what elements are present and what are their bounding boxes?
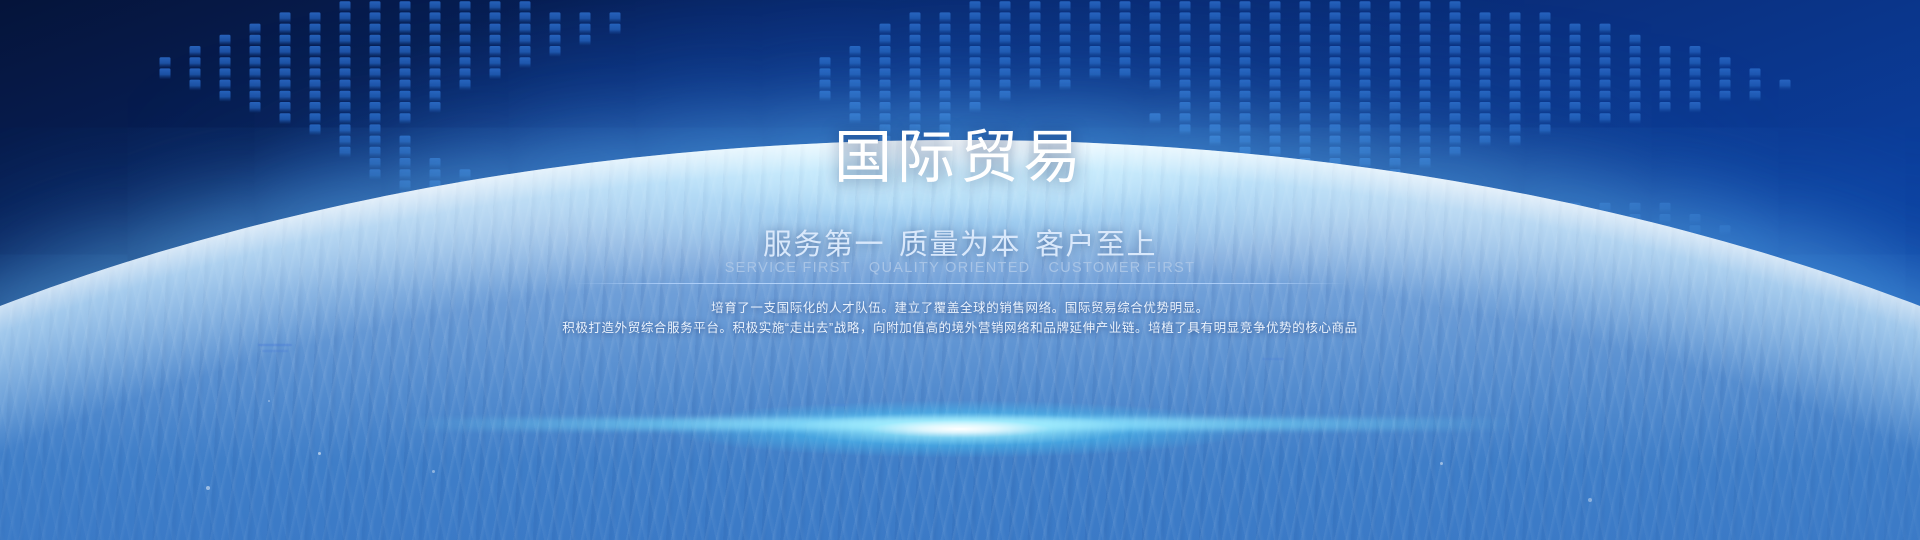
international-trade-banner: 国际贸易 服务第一质量为本客户至上 SERVICE FIRSTQUALITY O… — [0, 0, 1920, 540]
subtitle-en-3: CUSTOMER FIRST — [1048, 260, 1195, 276]
subtitle-en-2: QUALITY ORIENTED — [869, 260, 1031, 276]
banner-content: 国际贸易 服务第一质量为本客户至上 SERVICE FIRSTQUALITY O… — [0, 0, 1920, 540]
subtitle-cn-3: 客户至上 — [1035, 229, 1157, 261]
horizontal-divider — [572, 283, 1348, 284]
body-paragraph: 培育了一支国际化的人才队伍。建立了覆盖全球的销售网络。国际贸易综合优势明显。 积… — [0, 298, 1920, 338]
page-title: 国际贸易 — [0, 125, 1920, 191]
subtitle-cn-1: 服务第一 — [763, 229, 885, 261]
subtitle-en-1: SERVICE FIRST — [725, 260, 851, 276]
subtitle-chinese: 服务第一质量为本客户至上 — [0, 228, 1920, 262]
body-line-1: 培育了一支国际化的人才队伍。建立了覆盖全球的销售网络。国际贸易综合优势明显。 — [0, 298, 1920, 318]
body-line-2: 积极打造外贸综合服务平台。积极实施“走出去”战略，向附加值高的境外营销网络和品牌… — [0, 318, 1920, 338]
subtitle-english: SERVICE FIRSTQUALITY ORIENTEDCUSTOMER FI… — [0, 259, 1920, 278]
subtitle-cn-2: 质量为本 — [899, 229, 1021, 261]
